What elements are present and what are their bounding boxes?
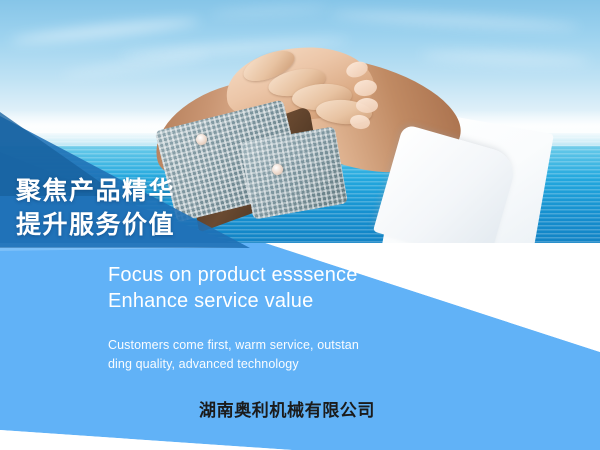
subcopy-line1: Customers come first, warm service, outs… <box>108 338 359 352</box>
chinese-headline-line2: 提升服务价值 <box>16 208 175 242</box>
chinese-headline: 聚焦产品精华 提升服务价值 <box>16 174 175 242</box>
subcopy-line2: ding quality, advanced technology <box>108 355 359 374</box>
company-name: 湖南奥利机械有限公司 <box>199 396 375 421</box>
english-headline-line2: Enhance service value <box>108 288 358 314</box>
english-headline-line1: Focus on product esssence <box>108 264 358 286</box>
english-headline: Focus on product esssence Enhance servic… <box>108 262 358 314</box>
subcopy-text: Customers come first, warm service, outs… <box>108 336 359 374</box>
promo-banner: 聚焦产品精华 提升服务价值 Focus on product esssence … <box>0 0 600 450</box>
chinese-headline-line1: 聚焦产品精华 <box>16 177 175 205</box>
